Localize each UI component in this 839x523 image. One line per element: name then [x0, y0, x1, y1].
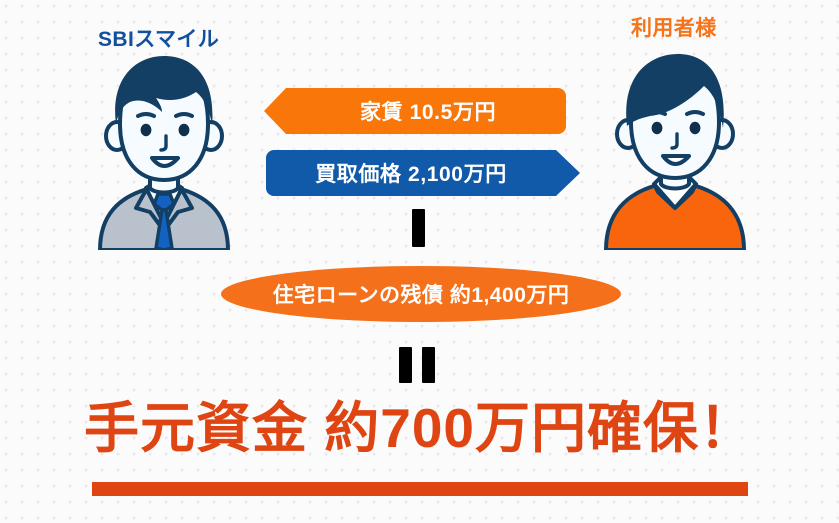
loan-balance-text: 住宅ローンの残債 約1,400万円	[273, 279, 570, 309]
equals-bar-second	[422, 347, 435, 383]
rent-banner-text: 家賃 10.5万円	[354, 96, 496, 126]
equals-bar-first	[399, 347, 412, 383]
businessman-avatar-icon	[84, 52, 244, 250]
loan-balance-ellipse: 住宅ローンの残債 約1,400万円	[221, 266, 621, 322]
minus-bar	[412, 209, 425, 247]
rent-banner: 家賃 10.5万円	[264, 88, 566, 134]
bottom-accent-bar	[92, 482, 748, 496]
equals-operator-icon	[399, 347, 435, 383]
left-character-label: SBIスマイル	[98, 29, 219, 50]
customer-avatar-icon	[594, 52, 756, 250]
purchase-price-banner: 買取価格 2,100万円	[266, 150, 580, 196]
infographic-canvas: SBIスマイル	[0, 0, 839, 523]
minus-operator-icon	[412, 209, 425, 247]
result-headline: 手元資金 約700万円確保！	[0, 401, 839, 456]
right-character-label: 利用者様	[631, 18, 717, 39]
purchase-price-banner-text: 買取価格 2,100万円	[315, 158, 507, 188]
